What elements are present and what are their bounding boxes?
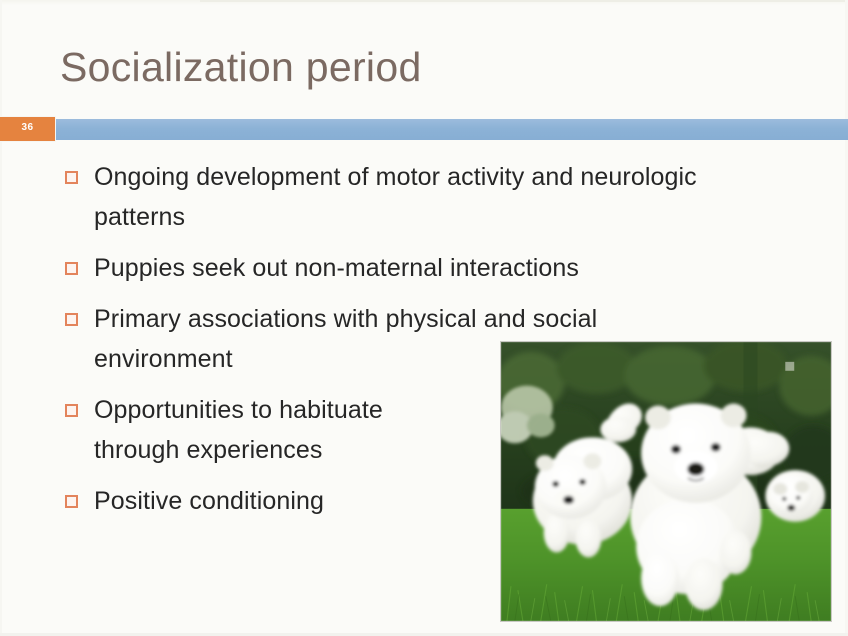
- page-title: Socialization period: [60, 40, 760, 94]
- list-item-label: Ongoing development of motor activity an…: [94, 157, 706, 237]
- puppies-illustration: [501, 342, 831, 621]
- capture-top-strip-inner: [200, 0, 848, 2]
- list-item: Puppies seek out non-maternal interactio…: [62, 248, 722, 288]
- hollow-square-bullet-icon: [65, 262, 78, 275]
- hollow-square-bullet-icon: [65, 313, 78, 326]
- capture-top-strip: [0, 0, 848, 5]
- capture-left-edge: [0, 0, 2, 636]
- samoyed-puppies-photo: [500, 341, 832, 622]
- list-item: Ongoing development of motor activity an…: [62, 157, 722, 237]
- slide-number-badge: 36: [0, 117, 55, 141]
- hollow-square-bullet-icon: [65, 171, 78, 184]
- hollow-square-bullet-icon: [65, 404, 78, 417]
- title-divider-row: 36: [0, 116, 848, 142]
- hollow-square-bullet-icon: [65, 495, 78, 508]
- presentation-slide: Socialization period 36 Ongoing developm…: [0, 0, 848, 636]
- list-item-label: Puppies seek out non-maternal interactio…: [94, 248, 722, 288]
- slide-number-value: 36: [0, 122, 55, 134]
- accent-divider-bar: [56, 119, 848, 140]
- list-item-label: Opportunities to habituate through exper…: [94, 390, 474, 470]
